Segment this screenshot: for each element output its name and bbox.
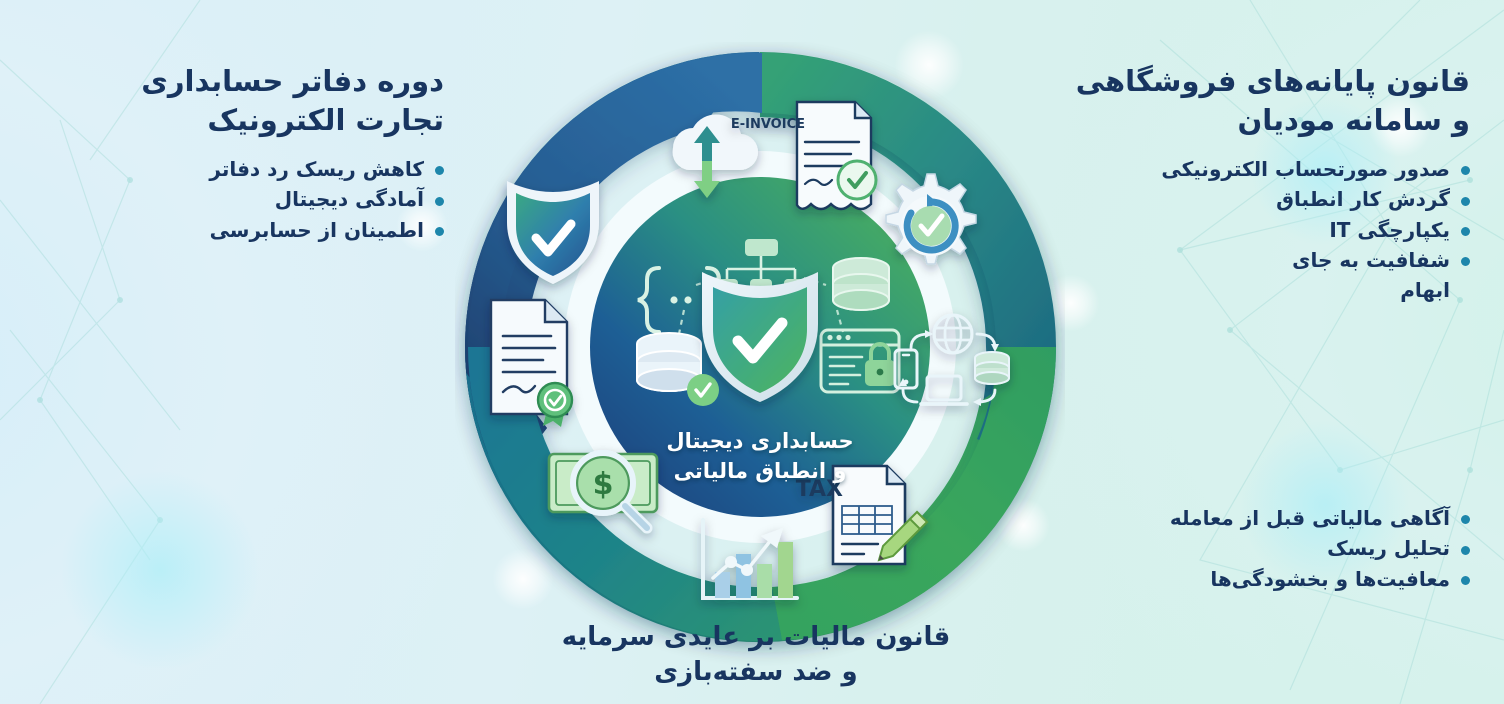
- heading-top-left: دوره دفاتر حسابداری تجارت الکترونیک: [0, 62, 444, 140]
- gear-sync-check-icon: [886, 174, 976, 264]
- list-item: معافیت‌ها و بخشودگی‌ها: [1000, 564, 1470, 594]
- list-item: گردش کار انطباق: [1000, 184, 1470, 214]
- list-item: آمادگی دیجیتال: [0, 184, 444, 214]
- list-item: شفافیت به جای: [1000, 245, 1470, 275]
- bullets-bottom-right: آگاهی مالیاتی قبل از معامله تحلیل ریسک م…: [1000, 503, 1470, 594]
- list-item: صدور صورتحساب الکترونیکی: [1000, 154, 1470, 184]
- heading-line-2: و سامانه مودیان: [1000, 101, 1470, 140]
- bullets-top-left: کاهش ریسک رد دفاتر آمادگی دیجیتال اطمینا…: [0, 154, 444, 245]
- database-stack-icon: [833, 258, 889, 310]
- bullet-dot-icon: [435, 227, 444, 236]
- bullet-text: ابهام: [1400, 278, 1450, 302]
- bullet-text: شفافیت به جای: [1292, 248, 1450, 272]
- heading-line-2: و ضد سفته‌بازی: [556, 655, 956, 690]
- heading-line-2: تجارت الکترونیک: [0, 101, 444, 140]
- section-bottom-right: آگاهی مالیاتی قبل از معامله تحلیل ریسک م…: [1000, 503, 1470, 594]
- svg-text:E-INVOICE: E-INVOICE: [731, 117, 805, 132]
- bullet-dot-icon: [1461, 227, 1470, 236]
- cycle-diagram: E-INVOICE: [455, 42, 1065, 667]
- bullet-text: گردش کار انطباق: [1276, 187, 1450, 211]
- bullet-dot-icon: [1461, 576, 1470, 585]
- bullet-dot-icon: [435, 197, 444, 206]
- bullet-dot-icon: [1461, 515, 1470, 524]
- bullet-text: کاهش ریسک رد دفاتر: [209, 157, 424, 181]
- bullet-text: آمادگی دیجیتال: [275, 187, 424, 211]
- bullet-text: تحلیل ریسک: [1327, 536, 1450, 560]
- section-bottom-center: قانون مالیات بر عایدی سرمایه و ضد سفته‌ب…: [556, 620, 956, 691]
- heading-bottom-center: قانون مالیات بر عایدی سرمایه و ضد سفته‌ب…: [556, 620, 956, 691]
- bullet-text: معافیت‌ها و بخشودگی‌ها: [1210, 567, 1450, 591]
- bullet-text: اطمینان از حسابرسی: [210, 218, 424, 242]
- bullet-text: صدور صورتحساب الکترونیکی: [1161, 157, 1450, 181]
- bullets-top-right: صدور صورتحساب الکترونیکی گردش کار انطباق…: [1000, 154, 1470, 306]
- bullet-text: آگاهی مالیاتی قبل از معامله: [1170, 506, 1450, 530]
- heading-line-1: دوره دفاتر حسابداری: [0, 62, 444, 101]
- bullet-dot-icon: [1461, 257, 1470, 266]
- center-label-line1: حسابداری دیجیتال: [455, 427, 1065, 457]
- bullet-dot-icon: [1461, 166, 1470, 175]
- list-item: تحلیل ریسک: [1000, 533, 1470, 563]
- ring-graphic: E-INVOICE: [455, 42, 1065, 667]
- section-top-right: قانون پایانه‌های فروشگاهی و سامانه مودیا…: [1000, 62, 1470, 306]
- bullet-dot-icon: [1461, 197, 1470, 206]
- bullet-dot-icon: [1461, 546, 1470, 555]
- center-label-line2: و انطباق مالیاتی: [455, 457, 1065, 487]
- heading-top-right: قانون پایانه‌های فروشگاهی و سامانه مودیا…: [1000, 62, 1470, 140]
- infographic-canvas: E-INVOICE: [0, 0, 1504, 704]
- section-top-left: دوره دفاتر حسابداری تجارت الکترونیک کاهش…: [0, 62, 480, 245]
- bullet-text: یکپارچگی IT: [1329, 218, 1450, 242]
- bullet-dot-icon: [435, 166, 444, 175]
- list-item-continuation: ابهام: [1000, 275, 1470, 305]
- heading-line-1: قانون پایانه‌های فروشگاهی: [1000, 62, 1470, 101]
- list-item: آگاهی مالیاتی قبل از معامله: [1000, 503, 1470, 533]
- list-item: اطمینان از حسابرسی: [0, 215, 444, 245]
- signed-certificate-document-icon: [491, 300, 572, 427]
- heading-line-1: قانون مالیات بر عایدی سرمایه: [556, 620, 956, 655]
- list-item: یکپارچگی IT: [1000, 215, 1470, 245]
- list-item: کاهش ریسک رد دفاتر: [0, 154, 444, 184]
